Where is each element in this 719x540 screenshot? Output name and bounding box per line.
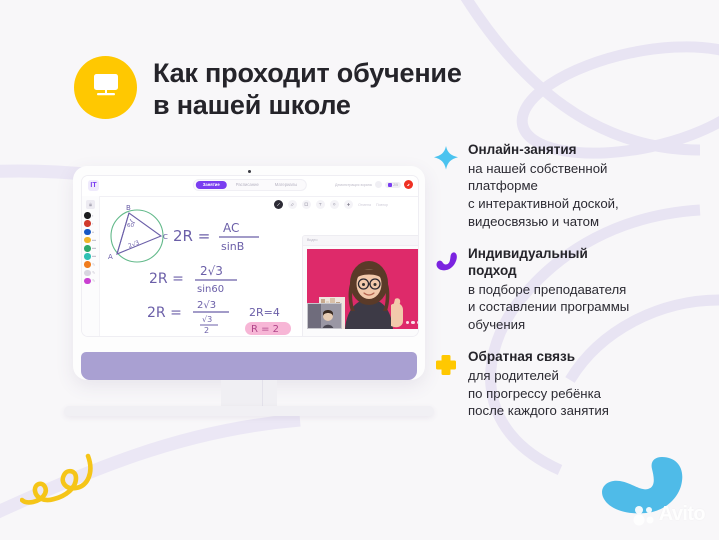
swatch-blue[interactable] xyxy=(84,229,91,236)
palette-swatch-row[interactable]: ▴ xyxy=(82,228,99,235)
feature-feedback: Обратная связь для родителей по прогресс… xyxy=(432,349,700,420)
settings-icon[interactable] xyxy=(375,181,382,188)
tab-lesson[interactable]: Занятие xyxy=(196,181,227,189)
plus-icon xyxy=(432,351,460,379)
monitor-mockup: IT Занятие Расписание Материалы Демонстр… xyxy=(73,166,425,380)
vertex-b: B xyxy=(126,204,131,212)
feature-body: в подборе преподавателя и составлении пр… xyxy=(468,281,700,334)
swatch-black[interactable] xyxy=(84,212,91,219)
swatch-green[interactable] xyxy=(84,245,91,252)
swatch-size-1: ▪ xyxy=(92,214,93,218)
phone-hangup-icon[interactable] xyxy=(404,180,413,189)
monitor-body: IT Занятие Расписание Материалы Демонстр… xyxy=(73,166,425,380)
swatch-size-8: ✎ xyxy=(92,271,95,275)
formula-1-den: sinB xyxy=(221,240,244,253)
palette-swatch-row[interactable]: ▪ xyxy=(82,212,99,219)
feature-individual-approach: Индивидуальный подход в подборе преподав… xyxy=(432,246,700,333)
palette-swatch-row[interactable]: ✎ xyxy=(82,278,99,285)
page-title: Как проходит обучение в нашей школе xyxy=(153,56,462,121)
monitor-stand-foot xyxy=(64,406,434,416)
slide-header: Как проходит обучение в нашей школе xyxy=(74,56,462,121)
crescent-icon xyxy=(432,248,460,276)
swatch-teal[interactable] xyxy=(84,253,91,260)
formula-1-left: 2R = xyxy=(173,227,210,245)
swatch-size-9: ✎ xyxy=(92,279,95,283)
monitor-stand-neck xyxy=(221,380,277,408)
swatch-grey[interactable] xyxy=(84,270,91,277)
side-label: 2√3 xyxy=(127,239,140,250)
tab-materials[interactable]: Материалы xyxy=(268,181,304,189)
app-tab-group: Занятие Расписание Материалы xyxy=(193,179,307,191)
feature-title: Индивидуальный подход xyxy=(468,246,700,280)
picture-in-picture-feed[interactable] xyxy=(307,303,342,329)
video-panel-header: Видео xyxy=(303,236,419,246)
feature-title: Онлайн-занятия xyxy=(468,142,700,159)
color-palette: ▪ ▪ ▴ ▬ ▬ xyxy=(82,196,100,337)
formula-1-num: AC xyxy=(223,221,239,235)
feature-body: на нашей собственной платформе с интерак… xyxy=(468,160,700,230)
avito-logo-icon xyxy=(633,504,655,526)
feature-body: для родителей по прогрессу ребёнка после… xyxy=(468,367,700,420)
video-call-panel[interactable]: Видео xyxy=(302,235,419,337)
formula-3-left: 2R = xyxy=(147,305,182,321)
formula-3-den-num: √3 xyxy=(202,315,212,324)
lock-icon[interactable] xyxy=(86,200,95,209)
app-top-bar: IT Занятие Расписание Материалы Демонстр… xyxy=(82,176,418,197)
vertex-c: C xyxy=(163,233,168,241)
dot xyxy=(411,321,415,325)
app-top-right-controls: Демонстрация экрана 2/5 xyxy=(335,180,413,189)
tab-schedule[interactable]: Расписание xyxy=(229,181,266,189)
palette-swatch-row[interactable]: ▪ xyxy=(82,220,99,227)
monitor-screen: IT Занятие Расписание Материалы Демонстр… xyxy=(81,175,419,337)
dot xyxy=(417,321,420,325)
palette-swatch-row[interactable]: ▬ xyxy=(82,245,99,252)
swatch-size-5: ▬ xyxy=(92,246,96,250)
palette-swatch-row[interactable]: ▬ xyxy=(82,253,99,260)
screen-share-label: Демонстрация экрана xyxy=(335,183,372,187)
feature-list: Онлайн-занятия на нашей собственной плат… xyxy=(432,142,700,436)
avito-watermark-text: Avito xyxy=(659,503,705,526)
participants-count: 2/5 xyxy=(393,183,398,187)
video-panel-title: Видео xyxy=(307,238,318,242)
formula-2-left: 2R = xyxy=(149,271,184,287)
formula-3-num: 2√3 xyxy=(197,300,216,311)
swatch-orange[interactable] xyxy=(84,261,91,268)
avito-watermark: Avito xyxy=(633,503,705,526)
formula-2-den: sin60 xyxy=(197,284,224,295)
swatch-violet[interactable] xyxy=(84,278,91,285)
slide-canvas: Как проходит обучение в нашей школе IT З… xyxy=(0,0,719,540)
swatch-size-2: ▪ xyxy=(92,222,93,226)
dot xyxy=(406,321,410,325)
more-options-icon[interactable] xyxy=(406,321,420,325)
swirl-decoration xyxy=(20,450,102,522)
swatch-size-3: ▴ xyxy=(92,230,94,234)
app-logo[interactable]: IT xyxy=(88,180,99,191)
star-sparkle-icon xyxy=(432,144,460,172)
webcam-dot xyxy=(248,170,251,173)
swatch-size-4: ▬ xyxy=(92,238,96,242)
feature-online-lessons: Онлайн-занятия на нашей собственной плат… xyxy=(432,142,700,230)
whiteboard[interactable]: B A C 60 2√3 2R = AC sinB 2R = 2√3 xyxy=(99,196,418,336)
people-icon xyxy=(388,183,392,187)
palette-swatch-row[interactable]: ✎ xyxy=(82,269,99,276)
swatch-red[interactable] xyxy=(84,220,91,227)
app-logo-text: IT xyxy=(90,182,96,189)
video-feed xyxy=(307,249,419,329)
swatch-size-6: ▬ xyxy=(92,254,96,258)
monitor-chin xyxy=(81,352,417,380)
result-line: 2R=4 xyxy=(249,306,280,319)
monitor-icon xyxy=(91,72,121,103)
participants-badge[interactable]: 2/5 xyxy=(385,182,401,188)
palette-swatch-row[interactable]: ▬ xyxy=(82,237,99,244)
header-badge xyxy=(74,56,137,119)
feature-title: Обратная связь xyxy=(468,349,700,366)
swatch-yellow[interactable] xyxy=(84,237,91,244)
formula-3-den-den: 2 xyxy=(204,326,209,335)
vertex-a: A xyxy=(108,253,113,261)
swatch-size-7: ✎ xyxy=(92,263,95,267)
angle-label: 60 xyxy=(127,223,134,229)
formula-2-num: 2√3 xyxy=(200,264,223,278)
palette-swatch-row[interactable]: ✎ xyxy=(82,261,99,268)
highlight-result: R = 2 xyxy=(251,324,279,335)
